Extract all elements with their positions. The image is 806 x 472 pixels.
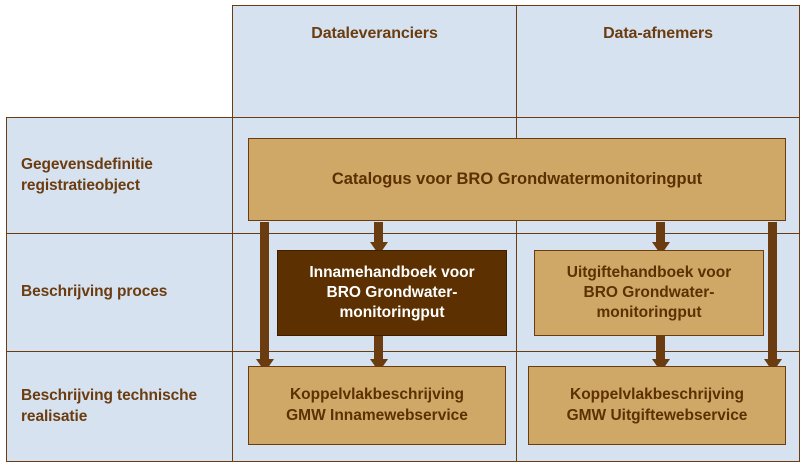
row-label-gegevensdefinitie: Gegevensdefinitie registratieobject [6,117,233,234]
column-header-label: Dataleveranciers [311,23,438,44]
node-catalogus-label: Catalogus voor BRO Grondwatermonitoringp… [324,169,710,190]
row-label-beschrijving-proces: Beschrijving proces [6,233,233,352]
row-label-text: Beschrijving proces [7,282,173,302]
column-header-dataleveranciers: Dataleveranciers [232,5,517,118]
node-koppelvlak-uitgifte-label: Koppelvlakbeschrijving GMW Uitgiftewebse… [559,385,756,425]
node-koppelvlak-uitgifte[interactable]: Koppelvlakbeschrijving GMW Uitgiftewebse… [528,366,786,445]
node-koppelvlak-inname-label: Koppelvlakbeschrijving GMW Innamewebserv… [278,385,476,425]
row-label-text: Gegevensdefinitie registratieobject [7,155,232,196]
column-header-data-afnemers: Data-afnemers [516,5,800,118]
node-innamehandboek[interactable]: Innamehandboek voor BRO Grondwater- moni… [277,250,507,336]
column-header-label: Data-afnemers [603,23,713,44]
node-uitgiftehandboek-label: Uitgiftehandboek voor BRO Grondwater- mo… [559,263,739,323]
node-innamehandboek-label: Innamehandboek voor BRO Grondwater- moni… [301,263,482,323]
connector-catalogus-to-koppelvlak-inname [260,222,269,365]
connector-catalogus-to-koppelvlak-uitgifte [768,222,777,365]
node-koppelvlak-inname[interactable]: Koppelvlakbeschrijving GMW Innamewebserv… [248,366,506,445]
node-catalogus[interactable]: Catalogus voor BRO Grondwatermonitoringp… [248,138,786,221]
diagram-canvas: Dataleveranciers Data-afnemers Gegevensd… [0,0,806,472]
row-label-text: Beschrijving technische realisatie [7,386,232,427]
row-label-beschrijving-technische-realisatie: Beschrijving technische realisatie [6,351,233,462]
node-uitgiftehandboek[interactable]: Uitgiftehandboek voor BRO Grondwater- mo… [534,250,764,336]
